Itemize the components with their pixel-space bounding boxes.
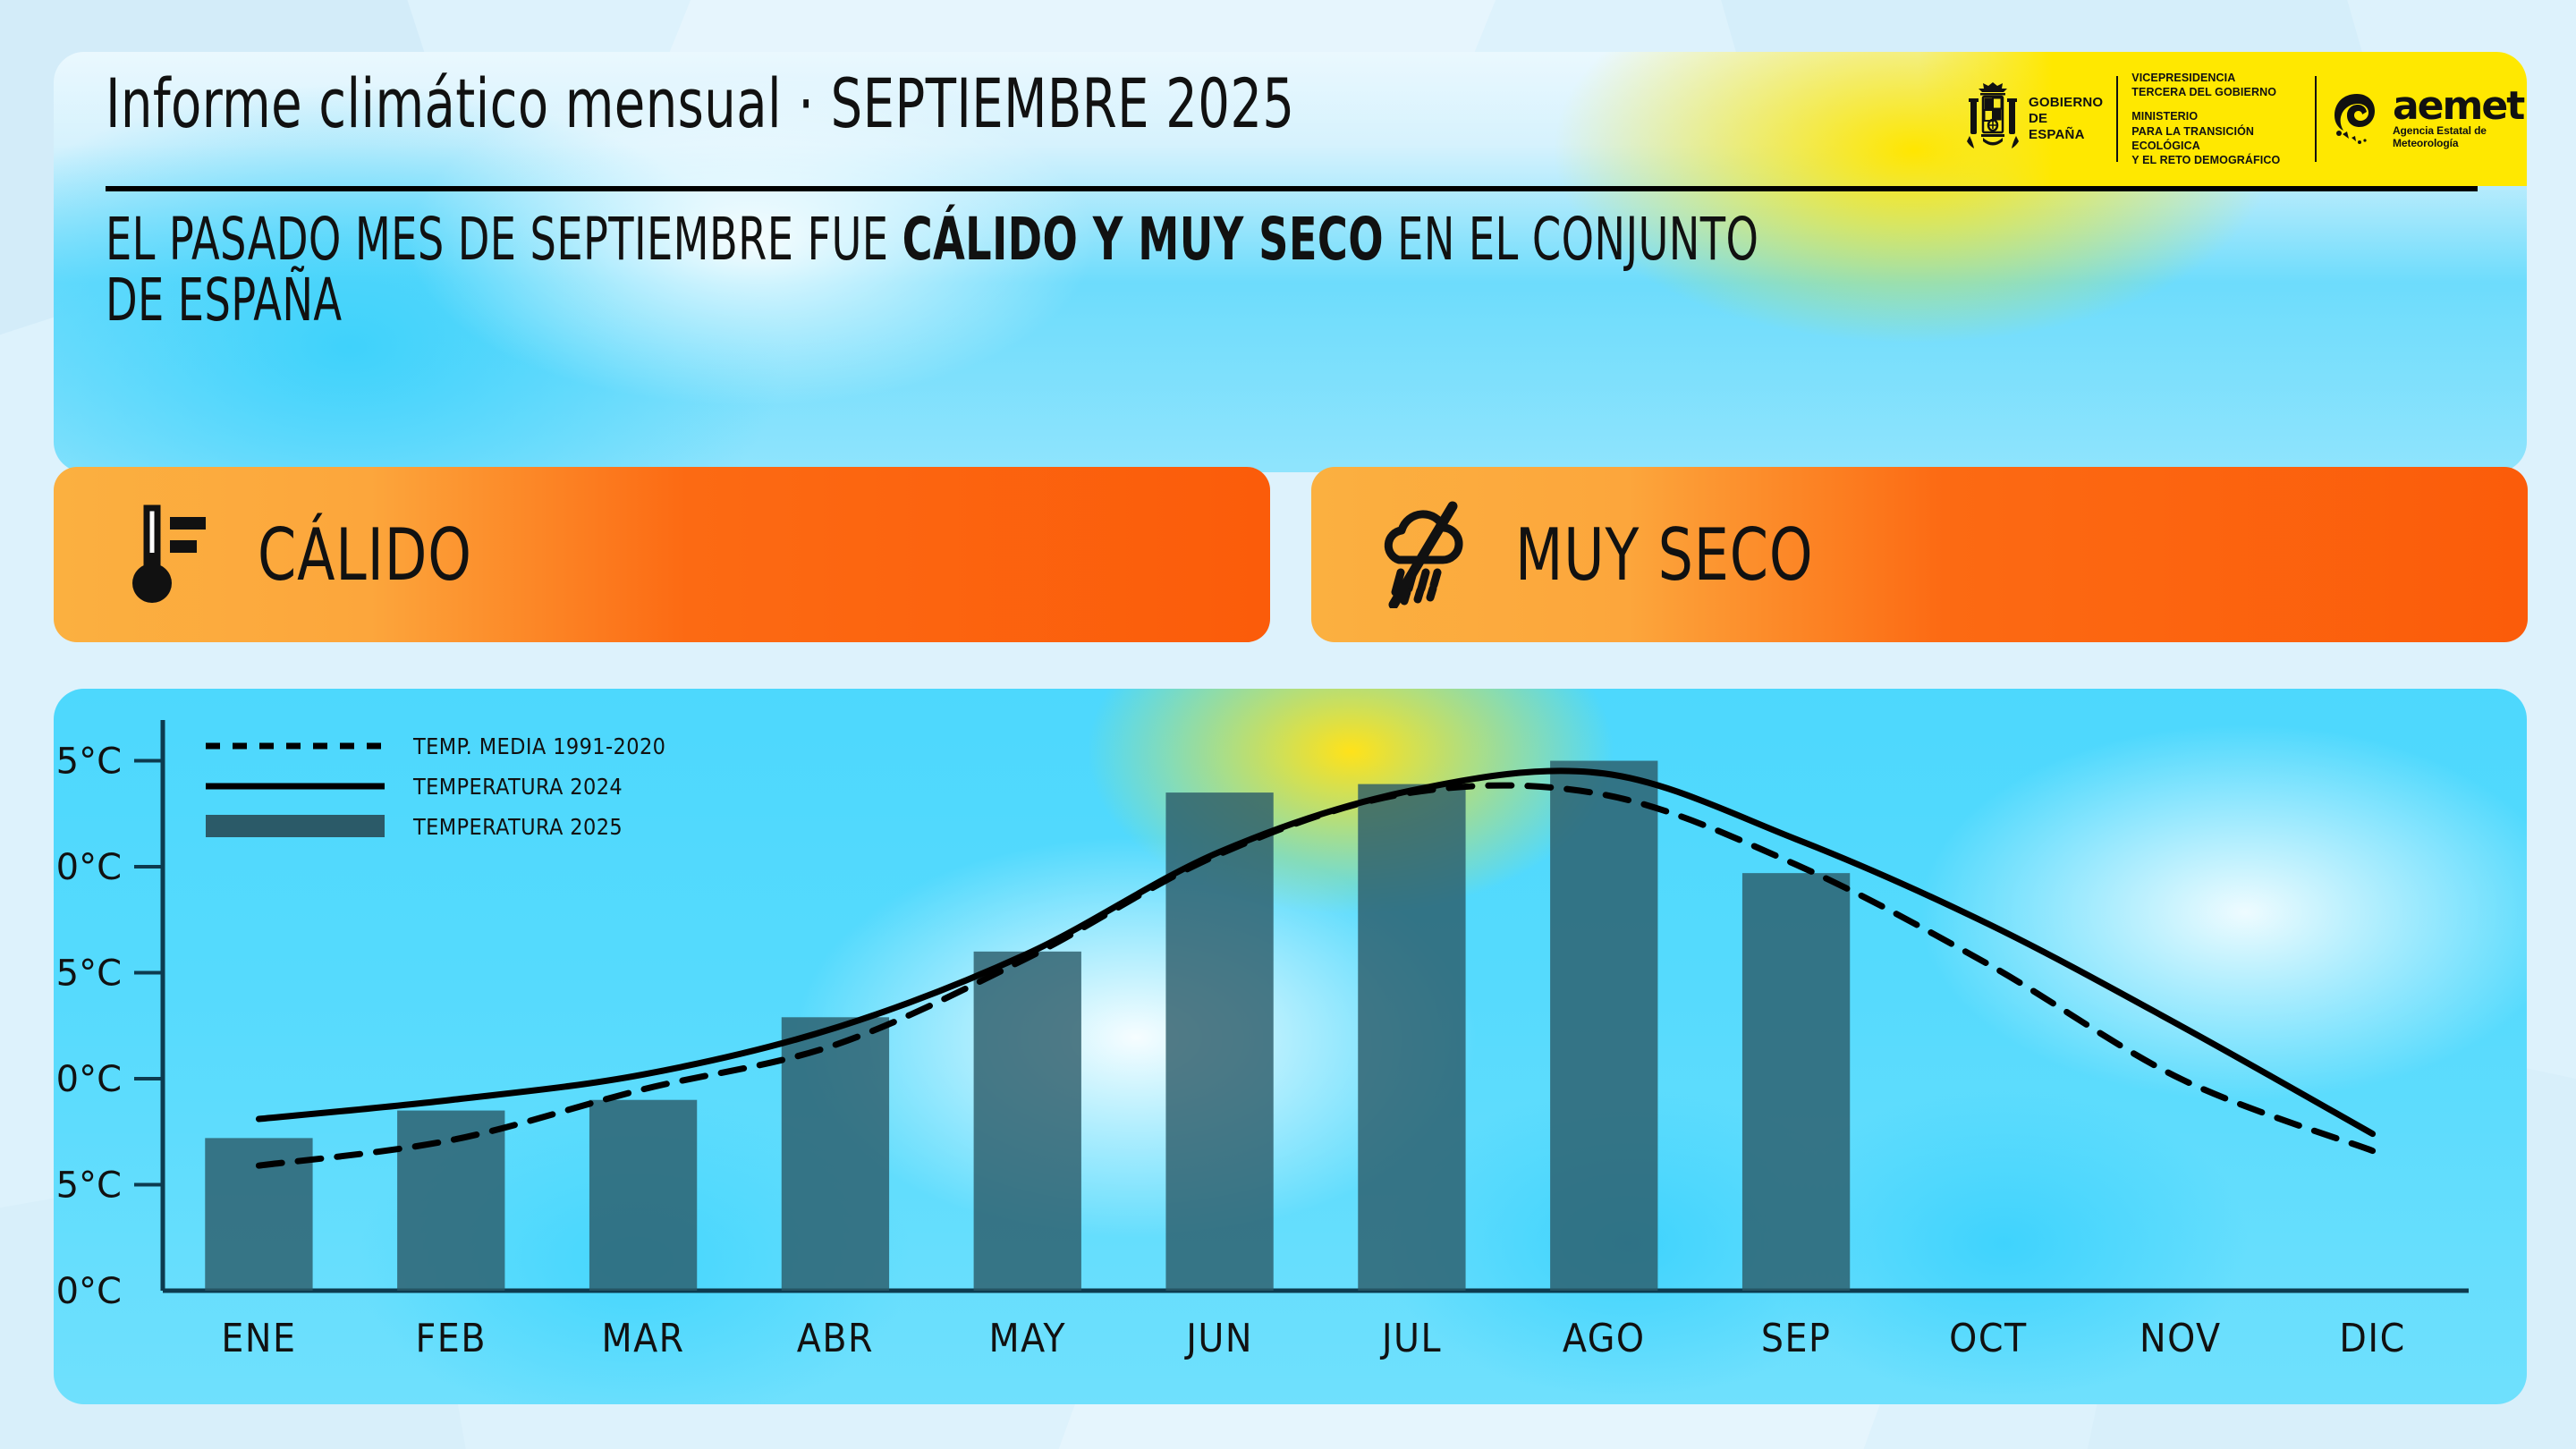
ministerio-line-2: TERCERA DEL GOBIERNO — [2131, 85, 2301, 99]
x-axis-tick-label: JUL — [1379, 1316, 1442, 1361]
bar-sep — [1742, 873, 1850, 1291]
spain-coat-of-arms-icon — [1965, 80, 2021, 157]
status-badge-warm[interactable]: CÁLIDO — [54, 467, 1270, 642]
gobierno-line-1: GOBIERNO — [2029, 95, 2103, 111]
bar-may — [974, 952, 1081, 1291]
header-top-row: Informe climático mensual · SEPTIEMBRE 2… — [54, 52, 2527, 186]
y-axis-tick-label: 15°C — [54, 953, 122, 995]
gobierno-line-2: DE ESPAÑA — [2029, 111, 2103, 144]
y-axis-tick-label: 0°C — [56, 1271, 122, 1312]
x-axis-tick-label: MAY — [989, 1316, 1066, 1361]
x-axis-tick-label: ENE — [221, 1316, 296, 1361]
bar-jul — [1358, 784, 1465, 1291]
x-axis-tick-label: FEB — [416, 1316, 487, 1361]
gobierno-label: GOBIERNO DE ESPAÑA — [2029, 95, 2103, 144]
bar-mar — [589, 1100, 697, 1291]
page-title: Informe climático mensual · SEPTIEMBRE 2… — [106, 70, 1294, 138]
legend-label: TEMPERATURA 2025 — [412, 814, 623, 840]
logo-divider — [2116, 76, 2118, 162]
thermometer-icon — [120, 501, 218, 608]
badge-label-warm: CÁLIDO — [258, 513, 472, 597]
x-axis-tick-label: NOV — [2140, 1316, 2222, 1361]
x-axis-tick-label: OCT — [1949, 1316, 2027, 1361]
x-axis-tick-label: DIC — [2339, 1316, 2405, 1361]
bar-feb — [397, 1111, 504, 1291]
x-axis-tick-label: JUN — [1183, 1316, 1253, 1361]
ministerio-label: VICEPRESIDENCIA TERCERA DEL GOBIERNO MIN… — [2131, 71, 2301, 168]
page-title-month: SEPTIEMBRE 2025 — [831, 64, 1295, 143]
no-rain-cloud-icon — [1377, 501, 1476, 608]
legend-label: TEMP. MEDIA 1991-2020 — [412, 733, 665, 759]
page-title-regular: Informe climático mensual · — [106, 64, 831, 143]
bar-ago — [1550, 761, 1657, 1291]
x-axis-tick-label: MAR — [601, 1316, 684, 1361]
subtitle-pre: EL PASADO MES DE SEPTIEMBRE FUE — [106, 205, 902, 274]
institutional-logo-strip: GOBIERNO DE ESPAÑA VICEPRESIDENCIA TERCE… — [1919, 52, 2527, 186]
aemet-swirl-icon — [2330, 91, 2385, 147]
legend-swatch-bar — [206, 815, 385, 837]
temperature-chart: 0°C5°C10°C15°C20°C25°CENEFEBMARABRMAYJUN… — [54, 689, 2527, 1404]
header-card: Informe climático mensual · SEPTIEMBRE 2… — [54, 52, 2527, 472]
ministerio-line-1: VICEPRESIDENCIA — [2131, 71, 2301, 85]
line-climate-mean — [258, 785, 2372, 1165]
aemet-wordmark: aemet — [2393, 89, 2527, 124]
ministerio-line-4: PARA LA TRANSICIÓN ECOLÓGICA — [2131, 124, 2301, 154]
legend-label: TEMPERATURA 2024 — [412, 774, 623, 800]
y-axis-tick-label: 5°C — [56, 1165, 122, 1207]
status-badge-dry[interactable]: MUY SECO — [1311, 467, 2528, 642]
y-axis-tick-label: 25°C — [54, 741, 122, 783]
y-axis-tick-label: 20°C — [54, 847, 122, 888]
header-divider — [106, 186, 2478, 191]
y-axis-tick-label: 10°C — [54, 1059, 122, 1100]
aemet-logo: aemet Agencia Estatal de Meteorología — [2330, 89, 2527, 149]
page-subtitle: EL PASADO MES DE SEPTIEMBRE FUE CÁLIDO Y… — [106, 209, 1815, 331]
badge-label-dry: MUY SECO — [1515, 513, 1813, 597]
ministerio-line-3: MINISTERIO — [2131, 109, 2301, 123]
x-axis-tick-label: SEP — [1761, 1316, 1832, 1361]
subtitle-highlight: CÁLIDO Y MUY SECO — [902, 205, 1384, 274]
x-axis-tick-label: AGO — [1563, 1316, 1646, 1361]
ministerio-line-5: Y EL RETO DEMOGRÁFICO — [2131, 153, 2301, 167]
temperature-chart-card: 0°C5°C10°C15°C20°C25°CENEFEBMARABRMAYJUN… — [54, 689, 2527, 1404]
logo-divider — [2315, 76, 2317, 162]
x-axis-tick-label: ABR — [797, 1316, 874, 1361]
